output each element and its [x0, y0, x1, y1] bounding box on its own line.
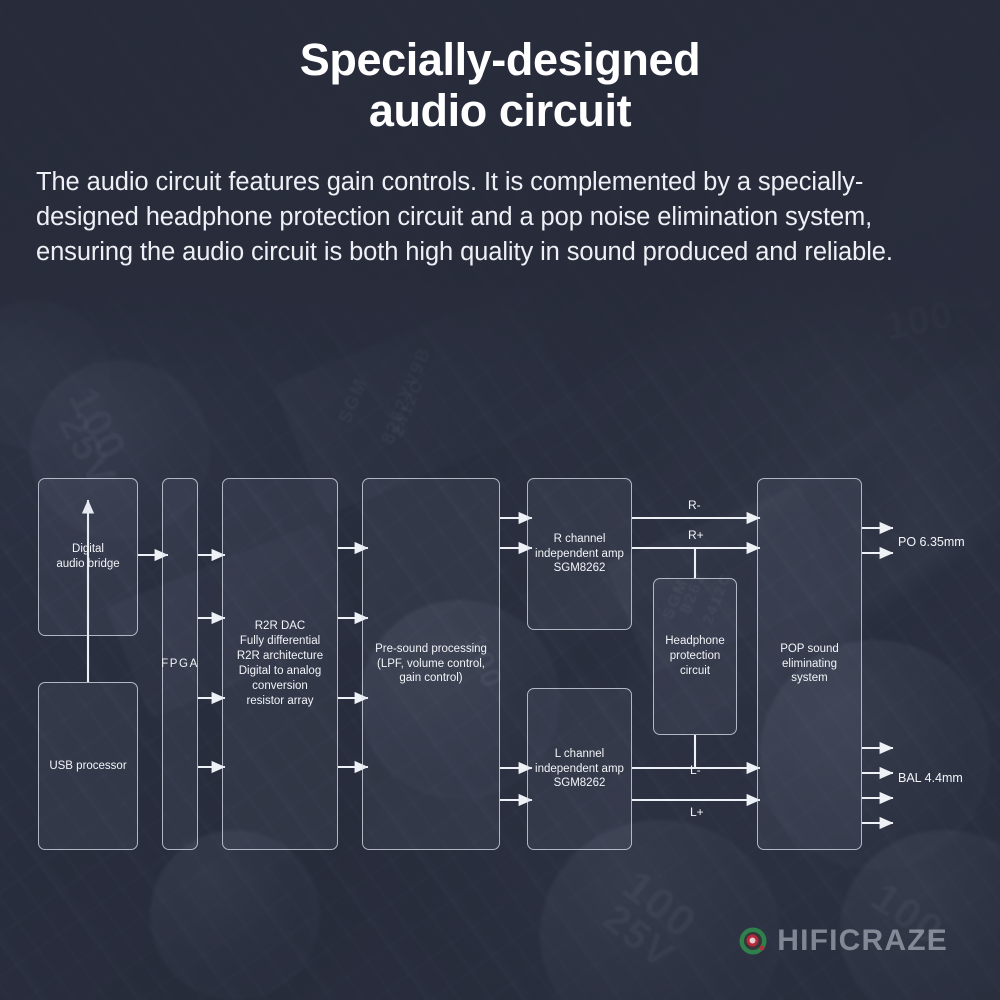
- edge-label-l-minus: L-: [690, 763, 701, 777]
- node-fpga[interactable]: FPGA: [162, 478, 198, 850]
- node-pop-sound-eliminating-system[interactable]: POP sound eliminating system: [757, 478, 862, 850]
- node-digital-audio-bridge[interactable]: Digital audio bridge: [38, 478, 138, 636]
- node-label: FPGA: [161, 657, 199, 672]
- node-label: Pre-sound processing (LPF, volume contro…: [375, 642, 487, 687]
- audio-circuit-block-diagram: Digital audio bridge USB processor FPGA …: [0, 0, 1000, 1000]
- edge-label-r-minus: R-: [688, 498, 701, 512]
- edge-label-l-plus: L+: [690, 805, 704, 819]
- node-label: R channel independent amp SGM8262: [535, 532, 624, 577]
- node-usb-processor[interactable]: USB processor: [38, 682, 138, 850]
- node-label: Digital audio bridge: [56, 542, 119, 572]
- node-r-channel-amp[interactable]: R channel independent amp SGM8262: [527, 478, 632, 630]
- node-r2r-dac[interactable]: R2R DAC Fully differential R2R architect…: [222, 478, 338, 850]
- brand-watermark: HIFICRAZE: [738, 924, 948, 958]
- node-l-channel-amp[interactable]: L channel independent amp SGM8262: [527, 688, 632, 850]
- node-label: Headphone protection circuit: [658, 634, 732, 679]
- edge-label-r-plus: R+: [688, 528, 704, 542]
- node-headphone-protection-circuit[interactable]: Headphone protection circuit: [653, 578, 737, 735]
- brand-name: HIFICRAZE: [777, 924, 948, 958]
- hificraze-logo-icon: [738, 926, 768, 956]
- output-label-bal: BAL 4.4mm: [898, 771, 963, 785]
- node-label: USB processor: [49, 759, 126, 774]
- node-label: POP sound eliminating system: [780, 642, 839, 687]
- node-label: R2R DAC Fully differential R2R architect…: [237, 619, 323, 709]
- node-label: L channel independent amp SGM8262: [535, 747, 624, 792]
- output-label-po: PO 6.35mm: [898, 535, 965, 549]
- node-pre-sound-processing[interactable]: Pre-sound processing (LPF, volume contro…: [362, 478, 500, 850]
